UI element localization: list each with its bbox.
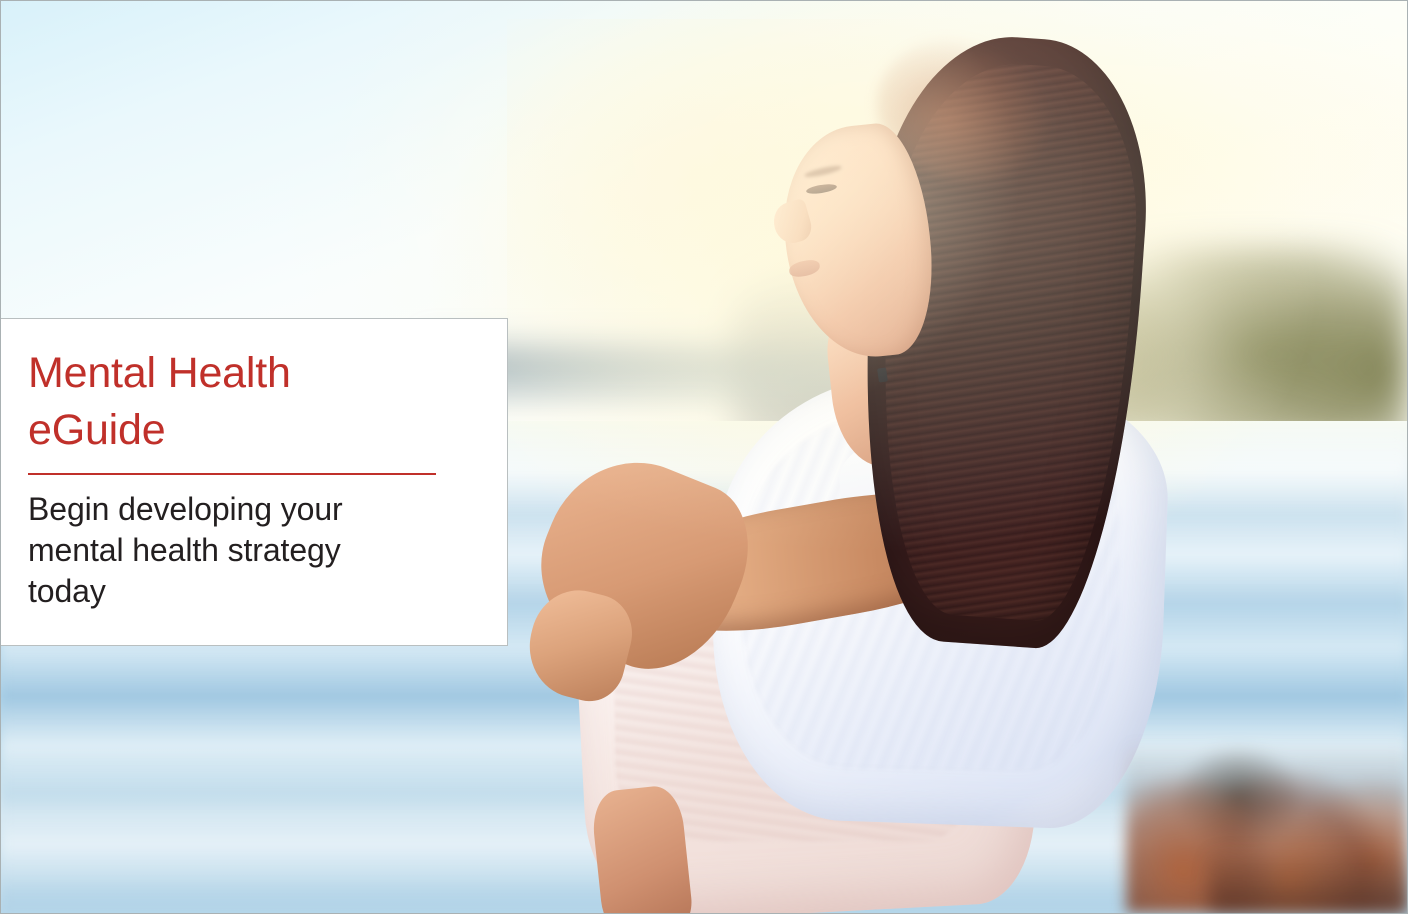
title-card-content: Mental Health eGuide Begin developing yo… xyxy=(0,319,507,612)
slide-page: Mental Health eGuide Begin developing yo… xyxy=(0,0,1408,914)
title-card: Mental Health eGuide Begin developing yo… xyxy=(0,318,508,646)
title-divider xyxy=(28,473,436,475)
page-subtitle: Begin developing your mental health stra… xyxy=(28,489,477,612)
collar-button xyxy=(877,367,888,382)
rocky-shore-shadow xyxy=(1210,849,1407,913)
page-title: Mental Health eGuide xyxy=(28,345,477,459)
